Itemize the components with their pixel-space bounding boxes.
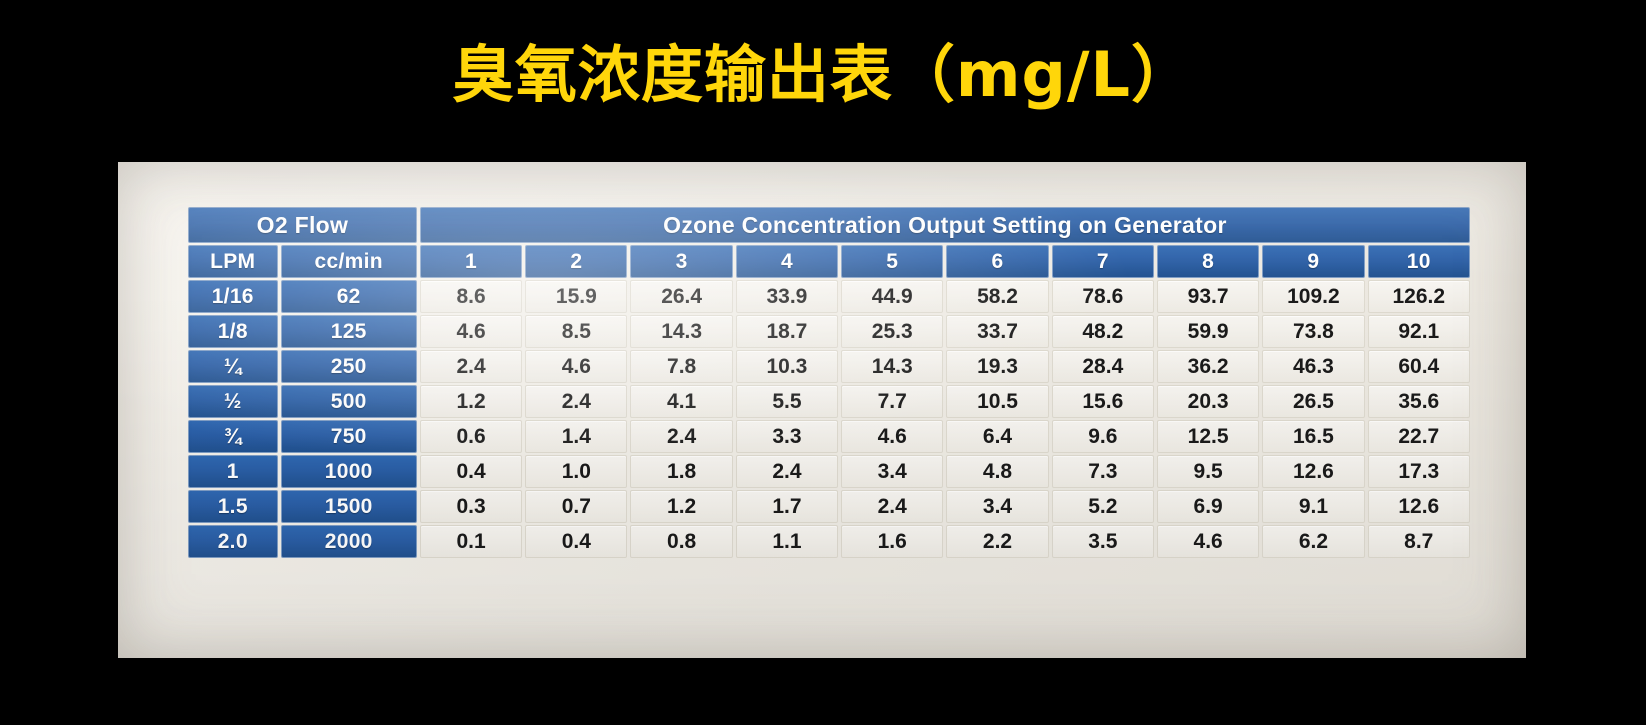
header-setting-3: 3 xyxy=(630,245,732,278)
cell-value: 14.3 xyxy=(630,315,732,348)
table-row: 1/16 62 8.6 15.9 26.4 33.9 44.9 58.2 78.… xyxy=(188,280,1470,313)
cell-value: 10.5 xyxy=(946,385,1048,418)
header-setting-8: 8 xyxy=(1157,245,1259,278)
cell-value: 9.1 xyxy=(1262,490,1364,523)
cell-value: 0.7 xyxy=(525,490,627,523)
cell-value: 3.4 xyxy=(946,490,1048,523)
cell-value: 0.8 xyxy=(630,525,732,558)
cell-value: 1.2 xyxy=(420,385,522,418)
cell-value: 3.4 xyxy=(841,455,943,488)
cell-value: 2.4 xyxy=(841,490,943,523)
cell-value: 1.1 xyxy=(736,525,838,558)
cell-value: 109.2 xyxy=(1262,280,1364,313)
cell-value: 15.9 xyxy=(525,280,627,313)
cell-value: 33.7 xyxy=(946,315,1048,348)
row-lpm: 1 xyxy=(188,455,278,488)
ozone-output-table: O2 Flow Ozone Concentration Output Setti… xyxy=(185,205,1473,589)
row-ccmin: 2000 xyxy=(281,525,417,558)
cell-value: 10.3 xyxy=(736,350,838,383)
cell-value: 20.3 xyxy=(1157,385,1259,418)
cell-value: 0.3 xyxy=(420,490,522,523)
cell-value: 1.8 xyxy=(630,455,732,488)
cell-value: 6.4 xyxy=(946,420,1048,453)
header-setting-6: 6 xyxy=(946,245,1048,278)
cell-value: 2.4 xyxy=(736,455,838,488)
cell-value: 36.2 xyxy=(1157,350,1259,383)
cell-value: 0.4 xyxy=(525,525,627,558)
header-group-row: O2 Flow Ozone Concentration Output Setti… xyxy=(188,207,1470,243)
cell-value: 22.7 xyxy=(1368,420,1470,453)
table-body: 1/16 62 8.6 15.9 26.4 33.9 44.9 58.2 78.… xyxy=(188,280,1470,558)
cell-value: 25.3 xyxy=(841,315,943,348)
cell-value: 6.9 xyxy=(1157,490,1259,523)
row-ccmin: 500 xyxy=(281,385,417,418)
header-setting-1: 1 xyxy=(420,245,522,278)
table-row: ½ 500 1.2 2.4 4.1 5.5 7.7 10.5 15.6 20.3… xyxy=(188,385,1470,418)
cell-value: 4.6 xyxy=(1157,525,1259,558)
cell-value: 12.6 xyxy=(1262,455,1364,488)
cell-value: 18.7 xyxy=(736,315,838,348)
cell-value: 1.6 xyxy=(841,525,943,558)
cell-value: 17.3 xyxy=(1368,455,1470,488)
cell-value: 8.6 xyxy=(420,280,522,313)
cell-value: 0.6 xyxy=(420,420,522,453)
cell-value: 58.2 xyxy=(946,280,1048,313)
header-setting-9: 9 xyxy=(1262,245,1364,278)
cell-value: 0.4 xyxy=(420,455,522,488)
row-lpm: ¼ xyxy=(188,350,278,383)
header-setting-10: 10 xyxy=(1368,245,1470,278)
cell-value: 16.5 xyxy=(1262,420,1364,453)
table-head: O2 Flow Ozone Concentration Output Setti… xyxy=(188,207,1470,278)
cell-value: 1.4 xyxy=(525,420,627,453)
cell-value: 60.4 xyxy=(1368,350,1470,383)
cell-value: 7.8 xyxy=(630,350,732,383)
cell-value: 26.4 xyxy=(630,280,732,313)
cell-value: 4.1 xyxy=(630,385,732,418)
row-lpm: 1.5 xyxy=(188,490,278,523)
cell-value: 0.1 xyxy=(420,525,522,558)
row-lpm: 2.0 xyxy=(188,525,278,558)
table-row: 2.0 2000 0.1 0.4 0.8 1.1 1.6 2.2 3.5 4.6… xyxy=(188,525,1470,558)
ozone-table-photo-panel: O2 Flow Ozone Concentration Output Setti… xyxy=(118,162,1526,658)
cell-value: 126.2 xyxy=(1368,280,1470,313)
cell-value: 1.0 xyxy=(525,455,627,488)
page-title: 臭氧浓度输出表（mg/L） xyxy=(0,36,1646,114)
cell-value: 12.6 xyxy=(1368,490,1470,523)
header-setting-4: 4 xyxy=(736,245,838,278)
cell-value: 2.4 xyxy=(630,420,732,453)
cell-value: 1.2 xyxy=(630,490,732,523)
header-ccmin: cc/min xyxy=(281,245,417,278)
cell-value: 28.4 xyxy=(1052,350,1154,383)
table-row: 1 1000 0.4 1.0 1.8 2.4 3.4 4.8 7.3 9.5 1… xyxy=(188,455,1470,488)
row-lpm: 1/16 xyxy=(188,280,278,313)
cell-value: 92.1 xyxy=(1368,315,1470,348)
row-ccmin: 250 xyxy=(281,350,417,383)
cell-value: 4.6 xyxy=(420,315,522,348)
row-ccmin: 1500 xyxy=(281,490,417,523)
cell-value: 4.8 xyxy=(946,455,1048,488)
cell-value: 7.7 xyxy=(841,385,943,418)
header-setting-5: 5 xyxy=(841,245,943,278)
cell-value: 4.6 xyxy=(841,420,943,453)
cell-value: 93.7 xyxy=(1157,280,1259,313)
cell-value: 4.6 xyxy=(525,350,627,383)
header-ozone-concentration: Ozone Concentration Output Setting on Ge… xyxy=(420,207,1470,243)
row-lpm: ½ xyxy=(188,385,278,418)
cell-value: 7.3 xyxy=(1052,455,1154,488)
header-o2-flow: O2 Flow xyxy=(188,207,417,243)
cell-value: 3.3 xyxy=(736,420,838,453)
cell-value: 9.5 xyxy=(1157,455,1259,488)
cell-value: 14.3 xyxy=(841,350,943,383)
cell-value: 33.9 xyxy=(736,280,838,313)
header-lpm: LPM xyxy=(188,245,278,278)
cell-value: 73.8 xyxy=(1262,315,1364,348)
row-ccmin: 1000 xyxy=(281,455,417,488)
cell-value: 78.6 xyxy=(1052,280,1154,313)
row-lpm: 1/8 xyxy=(188,315,278,348)
cell-value: 12.5 xyxy=(1157,420,1259,453)
header-setting-2: 2 xyxy=(525,245,627,278)
cell-value: 2.4 xyxy=(525,385,627,418)
cell-value: 2.2 xyxy=(946,525,1048,558)
row-ccmin: 62 xyxy=(281,280,417,313)
cell-value: 59.9 xyxy=(1157,315,1259,348)
table-row: 1.5 1500 0.3 0.7 1.2 1.7 2.4 3.4 5.2 6.9… xyxy=(188,490,1470,523)
cell-value: 6.2 xyxy=(1262,525,1364,558)
data-table: O2 Flow Ozone Concentration Output Setti… xyxy=(185,205,1473,560)
cell-value: 8.7 xyxy=(1368,525,1470,558)
table-row: 1/8 125 4.6 8.5 14.3 18.7 25.3 33.7 48.2… xyxy=(188,315,1470,348)
cell-value: 19.3 xyxy=(946,350,1048,383)
cell-value: 2.4 xyxy=(420,350,522,383)
cell-value: 1.7 xyxy=(736,490,838,523)
cell-value: 44.9 xyxy=(841,280,943,313)
cell-value: 48.2 xyxy=(1052,315,1154,348)
table-row: ¾ 750 0.6 1.4 2.4 3.3 4.6 6.4 9.6 12.5 1… xyxy=(188,420,1470,453)
cell-value: 8.5 xyxy=(525,315,627,348)
row-lpm: ¾ xyxy=(188,420,278,453)
cell-value: 5.2 xyxy=(1052,490,1154,523)
cell-value: 5.5 xyxy=(736,385,838,418)
cell-value: 9.6 xyxy=(1052,420,1154,453)
slide-root: 臭氧浓度输出表（mg/L） O2 Flow Ozone Concentratio… xyxy=(0,0,1646,725)
cell-value: 46.3 xyxy=(1262,350,1364,383)
row-ccmin: 125 xyxy=(281,315,417,348)
header-sub-row: LPM cc/min 1 2 3 4 5 6 7 8 9 10 xyxy=(188,245,1470,278)
cell-value: 26.5 xyxy=(1262,385,1364,418)
header-setting-7: 7 xyxy=(1052,245,1154,278)
table-row: ¼ 250 2.4 4.6 7.8 10.3 14.3 19.3 28.4 36… xyxy=(188,350,1470,383)
row-ccmin: 750 xyxy=(281,420,417,453)
cell-value: 35.6 xyxy=(1368,385,1470,418)
cell-value: 15.6 xyxy=(1052,385,1154,418)
cell-value: 3.5 xyxy=(1052,525,1154,558)
